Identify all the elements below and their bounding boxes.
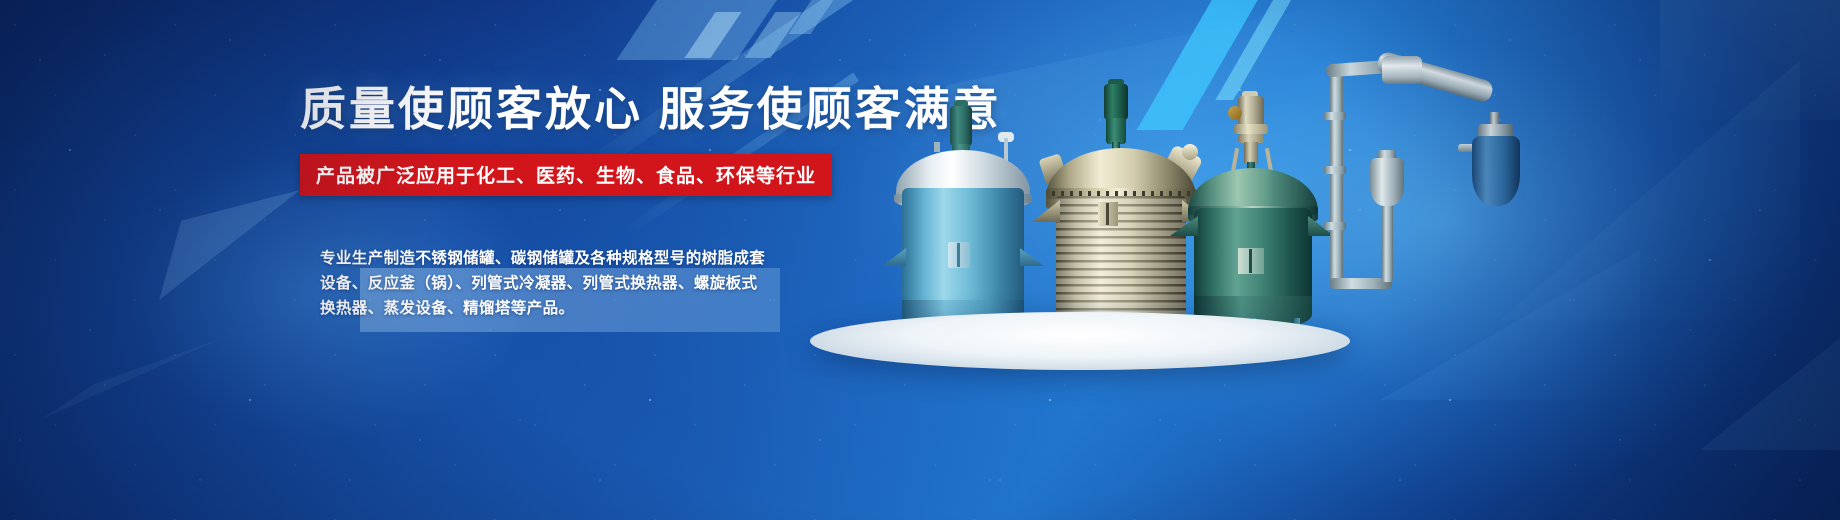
display-podium	[810, 312, 1350, 370]
description-text: 专业生产制造不锈钢储罐、碳钢储罐及各种规格型号的树脂成套 设备、反应釜（锅）、列…	[320, 246, 790, 321]
decorative-shard-top-4	[789, 0, 834, 34]
decorative-shard-top-1	[616, 0, 783, 60]
decorative-arrow-left	[80, 190, 300, 300]
decorative-triangle-corner	[1700, 330, 1840, 450]
blue-enamel-reactor-icon	[878, 102, 1048, 332]
decorative-triangle-far-right	[1500, 60, 1800, 320]
page-title: 质量使顾客放心 服务使顾客满意	[300, 86, 820, 132]
decorative-glow-corner	[1660, 0, 1840, 120]
equipment-scene	[790, 40, 1430, 380]
promo-banner: 质量使顾客放心 服务使顾客满意 产品被广泛应用于化工、医药、生物、食品、环保等行…	[0, 0, 1840, 520]
decorative-shard-top-2	[684, 12, 741, 58]
decorative-arrow-left-lower	[40, 330, 220, 420]
green-reaction-kettle-icon	[1162, 90, 1352, 336]
description-line-1: 专业生产制造不锈钢储罐、碳钢储罐及各种规格型号的树脂成套	[320, 246, 790, 271]
description-line-2: 设备、反应釜（锅）、列管式冷凝器、列管式换热器、螺旋板式	[320, 271, 790, 296]
description-line-3: 换热器、蒸发设备、精馏塔等产品。	[320, 296, 790, 321]
application-industries-tag: 产品被广泛应用于化工、医药、生物、食品、环保等行业	[300, 154, 832, 196]
copy-block: 质量使顾客放心 服务使顾客满意 产品被广泛应用于化工、医药、生物、食品、环保等行…	[300, 86, 820, 196]
